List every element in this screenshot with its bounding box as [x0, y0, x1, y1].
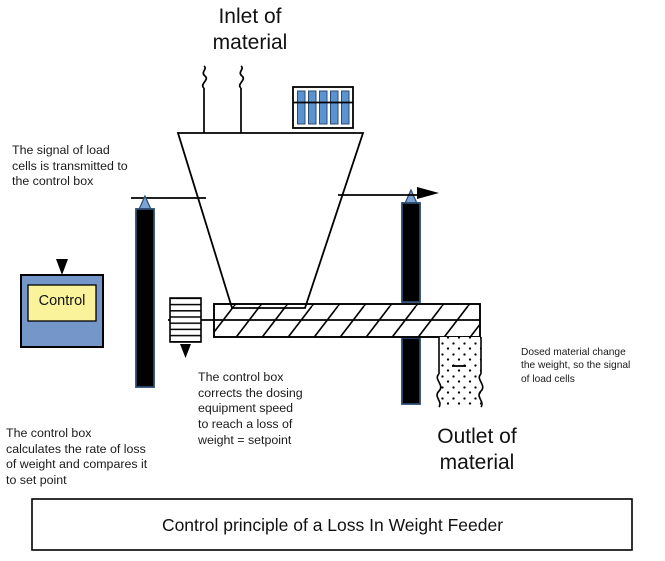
annotation-load-cell-signal: The signal of load cells is transmitted … [12, 143, 187, 190]
motor-stripes [170, 298, 201, 342]
material-stipple [439, 337, 481, 407]
right-load-cell-body-upper [402, 203, 420, 302]
left-load-cell-body [136, 209, 154, 387]
inlet-heading: Inlet of material [160, 4, 340, 55]
left-load-cell [136, 196, 154, 387]
outlet-heading: Outlet of material [382, 424, 572, 475]
right-load-cell-body-lower [402, 338, 420, 404]
loss-in-weight-feeder-diagram: Inlet of material Outlet of material The… [0, 0, 665, 556]
agitator-paddle-box [293, 87, 353, 128]
annotation-control-box-corrects: The control box corrects the dosing equi… [198, 370, 348, 448]
dosed-material-stream [437, 337, 483, 407]
screw-conveyor [168, 304, 480, 337]
figure-caption: Control principle of a Loss In Weight Fe… [0, 515, 665, 536]
control-box-label: Control [26, 293, 98, 309]
annotation-dosed-material: Dosed material change the weight, so the… [521, 346, 661, 386]
annotation-control-box-calculates: The control box calculates the rate of l… [6, 426, 186, 489]
